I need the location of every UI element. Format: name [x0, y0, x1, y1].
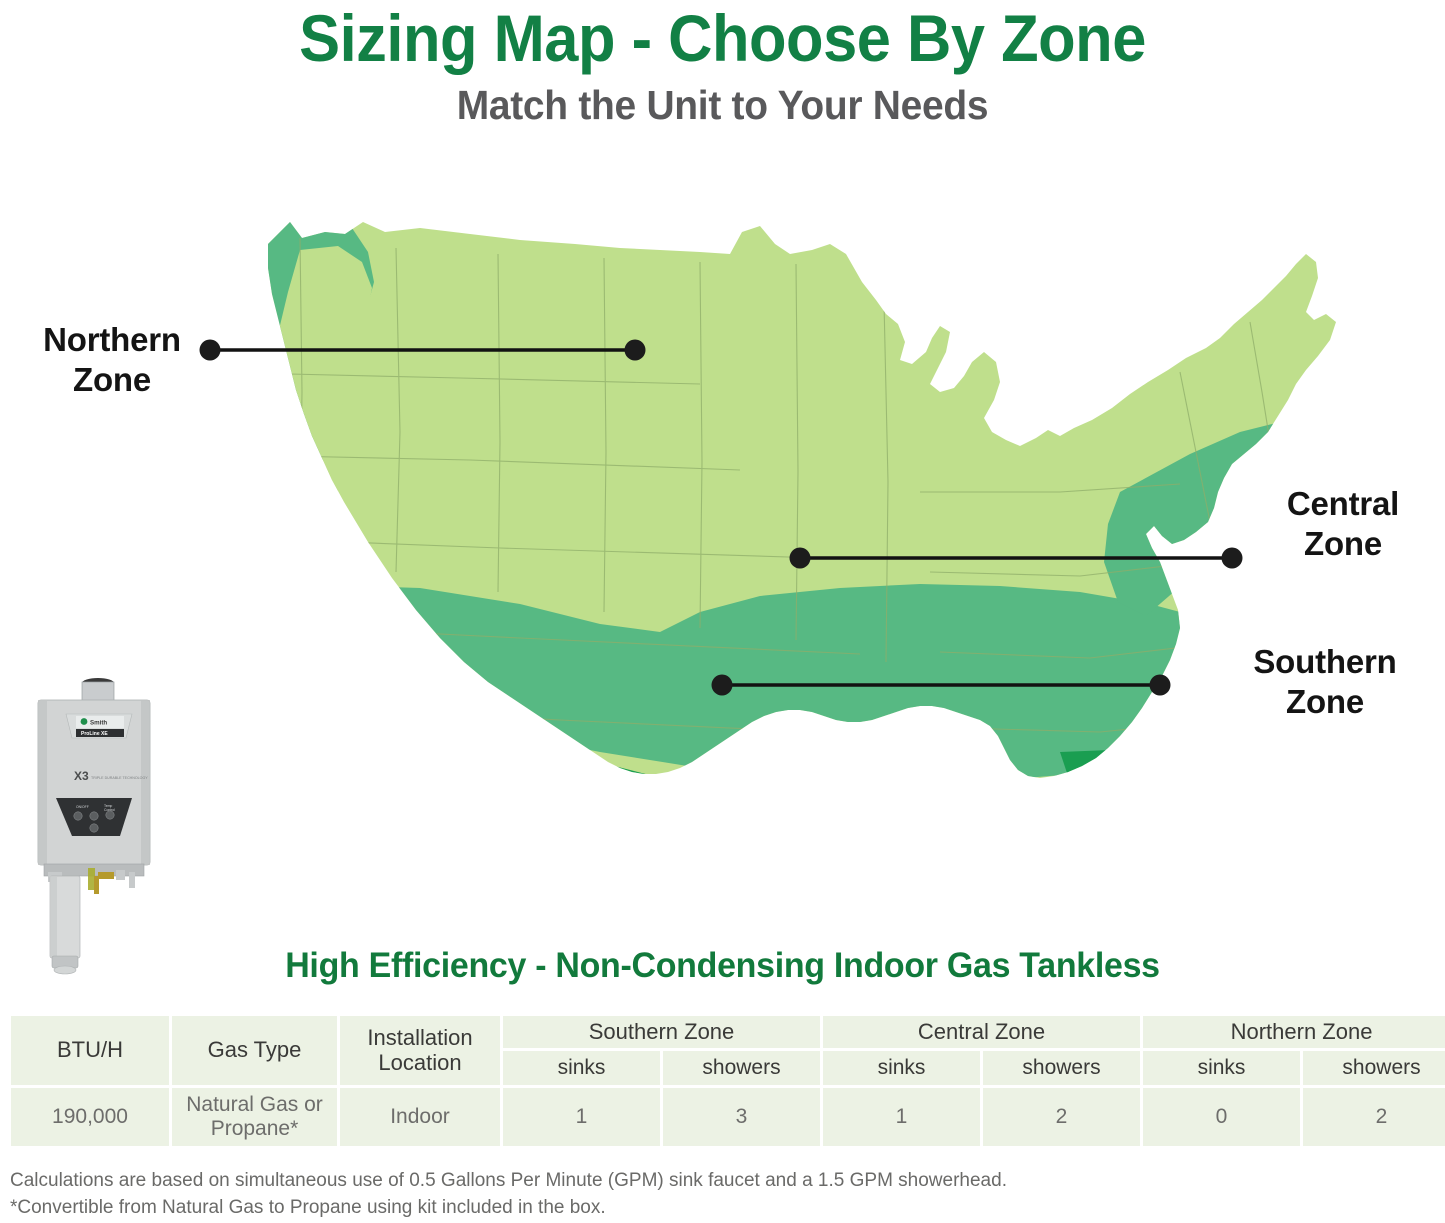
- svg-text:ProLine XE: ProLine XE: [81, 731, 108, 737]
- svg-text:TRIPLE DURABLE TECHNOLOGY: TRIPLE DURABLE TECHNOLOGY: [91, 776, 148, 780]
- header-northern-sinks: sinks: [1143, 1051, 1300, 1085]
- header-southern-showers: showers: [663, 1051, 820, 1085]
- header-central-sinks: sinks: [823, 1051, 980, 1085]
- header-gas-type: Gas Type: [172, 1016, 337, 1085]
- cell-southern-showers: 3: [663, 1088, 820, 1146]
- us-map-svg: [0, 192, 1445, 932]
- cell-southern-sinks: 1: [503, 1088, 660, 1146]
- footnote-convertible: *Convertible from Natural Gas to Propane…: [10, 1195, 1210, 1222]
- page-title: Sizing Map - Choose By Zone: [51, 0, 1395, 76]
- callout-label-central-zone: Central Zone: [1258, 484, 1428, 565]
- footnotes: Calculations are based on simultaneous u…: [10, 1168, 1210, 1222]
- header-installation-location: Installation Location: [340, 1016, 500, 1085]
- header-zone-central: Central Zone: [823, 1016, 1140, 1048]
- page-subtitle: Match the Unit to Your Needs: [36, 76, 1409, 129]
- header-southern-sinks: sinks: [503, 1051, 660, 1085]
- cell-installation-location: Indoor: [340, 1088, 500, 1146]
- footnote-calculations: Calculations are based on simultaneous u…: [10, 1168, 1210, 1195]
- cell-gas-type: Natural Gas or Propane*: [172, 1088, 337, 1146]
- table-header-row-primary: BTU/H Gas Type Installation Location Sou…: [11, 1016, 1445, 1048]
- callout-label-northern-zone: Northern Zone: [22, 320, 202, 401]
- cell-central-sinks: 1: [823, 1088, 980, 1146]
- header-zone-northern: Northern Zone: [1143, 1016, 1445, 1048]
- table-row: 190,000 Natural Gas or Propane* Indoor 1…: [11, 1088, 1445, 1146]
- header-btu: BTU/H: [11, 1016, 169, 1085]
- us-sizing-map: Northern Zone Central Zone Southern Zone: [0, 192, 1445, 932]
- svg-text:ON/OFF: ON/OFF: [76, 805, 89, 809]
- cell-central-showers: 2: [983, 1088, 1140, 1146]
- spec-table-container: BTU/H Gas Type Installation Location Sou…: [8, 1013, 1437, 1149]
- header-northern-showers: showers: [1303, 1051, 1445, 1085]
- product-image-tankless-water-heater: Smith ProLine XE X3 TRIPLE DURABLE TECHN…: [28, 676, 156, 978]
- header-zone-southern: Southern Zone: [503, 1016, 820, 1048]
- section-headline: High Efficiency - Non-Condensing Indoor …: [22, 946, 1424, 986]
- callout-label-southern-zone: Southern Zone: [1218, 642, 1432, 723]
- model-badge-x3: X3: [74, 769, 89, 783]
- header-central-showers: showers: [983, 1051, 1140, 1085]
- svg-text:Smith: Smith: [90, 720, 107, 727]
- cell-northern-showers: 2: [1303, 1088, 1445, 1146]
- cell-btu: 190,000: [11, 1088, 169, 1146]
- header: Sizing Map - Choose By Zone Match the Un…: [0, 0, 1445, 129]
- cell-northern-sinks: 0: [1143, 1088, 1300, 1146]
- sizing-spec-table: BTU/H Gas Type Installation Location Sou…: [8, 1013, 1445, 1149]
